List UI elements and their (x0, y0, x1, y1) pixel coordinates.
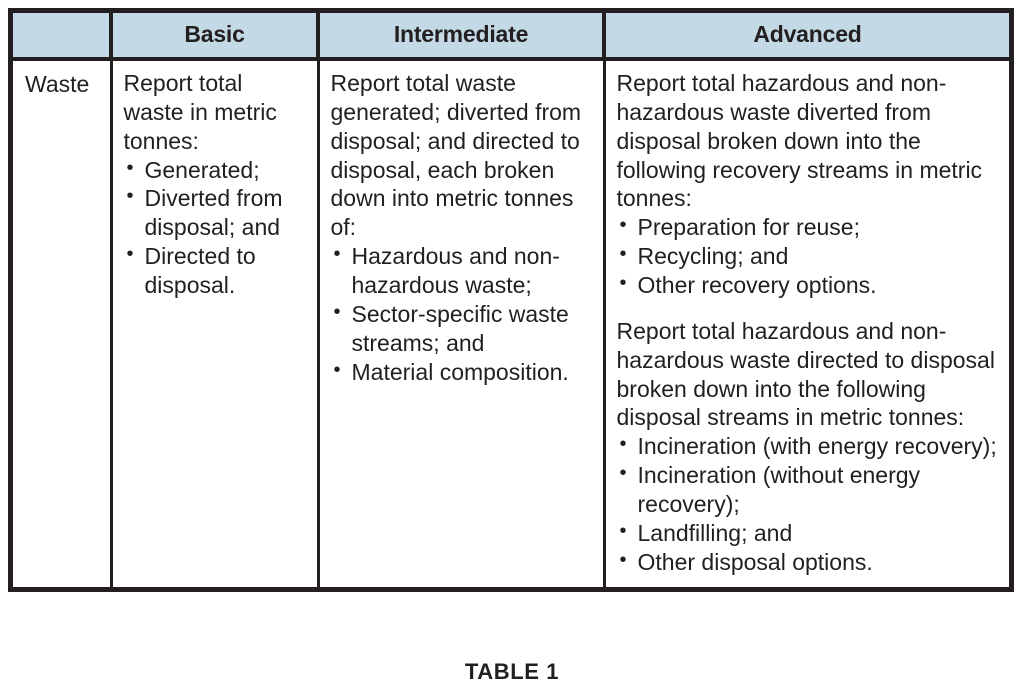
list-item: Diverted from disposal; and (124, 184, 308, 242)
list-item: Material composition. (331, 358, 594, 387)
cell-basic: Report total waste in metric tonnes: Gen… (111, 59, 318, 587)
list-item: Directed to disposal. (124, 242, 308, 300)
list-item: Incineration (without energy recovery); (617, 461, 1001, 519)
list-item: Recycling; and (617, 242, 1001, 271)
column-header-advanced: Advanced (604, 13, 1009, 59)
table-row: Waste Report total waste in metric tonne… (13, 59, 1009, 587)
intermediate-bullet-list: Hazardous and non-hazardous waste; Secto… (331, 242, 594, 386)
row-label-waste: Waste (13, 59, 111, 587)
list-item: Hazardous and non-hazardous waste; (331, 242, 594, 300)
advanced-recovery-bullet-list: Preparation for reuse; Recycling; and Ot… (617, 213, 1001, 300)
page-root: Basic Intermediate Advanced Waste Report… (0, 0, 1024, 698)
list-item: Incineration (with energy recovery); (617, 432, 1001, 461)
advanced-intro-disposal: Report total hazardous and non-hazardous… (617, 317, 1001, 432)
list-item: Generated; (124, 156, 308, 185)
column-header-basic: Basic (111, 13, 318, 59)
basic-intro: Report total waste in metric tonnes: (124, 69, 308, 156)
table-caption: TABLE 1 (0, 659, 1024, 685)
advanced-disposal-bullet-list: Incineration (with energy recovery); Inc… (617, 432, 1001, 576)
advanced-intro-recovery: Report total hazardous and non-hazardous… (617, 69, 1001, 213)
list-item: Other disposal options. (617, 548, 1001, 577)
list-item: Landfilling; and (617, 519, 1001, 548)
cell-advanced: Report total hazardous and non-hazardous… (604, 59, 1009, 587)
intermediate-intro: Report total waste generated; diverted f… (331, 69, 594, 242)
column-header-blank (13, 13, 111, 59)
cell-intermediate: Report total waste generated; diverted f… (318, 59, 604, 587)
list-item: Preparation for reuse; (617, 213, 1001, 242)
list-item: Other recovery options. (617, 271, 1001, 300)
list-item: Sector-specific waste streams; and (331, 300, 594, 358)
table-header-row: Basic Intermediate Advanced (13, 13, 1009, 59)
table-header: Basic Intermediate Advanced (13, 13, 1009, 59)
table-body: Waste Report total waste in metric tonne… (13, 59, 1009, 587)
column-header-intermediate: Intermediate (318, 13, 604, 59)
table-container: Basic Intermediate Advanced Waste Report… (8, 8, 1014, 592)
basic-bullet-list: Generated; Diverted from disposal; and D… (124, 156, 308, 300)
requirements-table: Basic Intermediate Advanced Waste Report… (13, 13, 1009, 587)
